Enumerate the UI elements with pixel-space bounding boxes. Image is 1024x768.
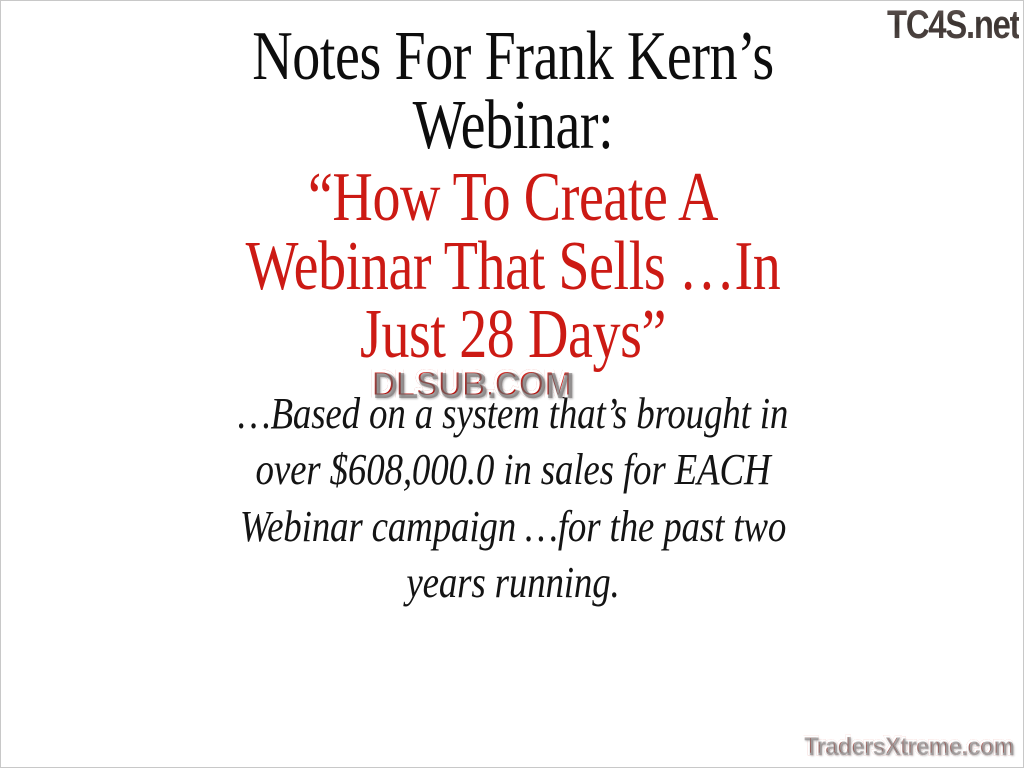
body-line-2: over $608,000.0 in sales for EACH: [135, 442, 891, 498]
headline-red-line-1: “How To Create A: [169, 164, 857, 233]
headline-red-line-3: Just 28 Days”: [169, 301, 857, 370]
headline-red-line-2: Webinar That Sells …In: [169, 233, 857, 302]
headline-black-line-2: Webinar:: [169, 92, 857, 161]
body-line-4: years running.: [135, 555, 891, 611]
body-line-3: Webinar campaign …for the past two: [135, 499, 891, 555]
headline-black-line-1: Notes For Frank Kern’s: [169, 23, 857, 92]
body-line-1: …Based on a system that’s brought in: [135, 386, 891, 442]
slide-canvas: Notes For Frank Kern’s Webinar: “How To …: [0, 0, 1024, 768]
headline-black: Notes For Frank Kern’s Webinar:: [169, 23, 857, 160]
slide-content: Notes For Frank Kern’s Webinar: “How To …: [1, 1, 1024, 768]
body-paragraph: …Based on a system that’s brought in ove…: [135, 386, 891, 611]
headline-red: “How To Create A Webinar That Sells …In …: [169, 164, 857, 370]
